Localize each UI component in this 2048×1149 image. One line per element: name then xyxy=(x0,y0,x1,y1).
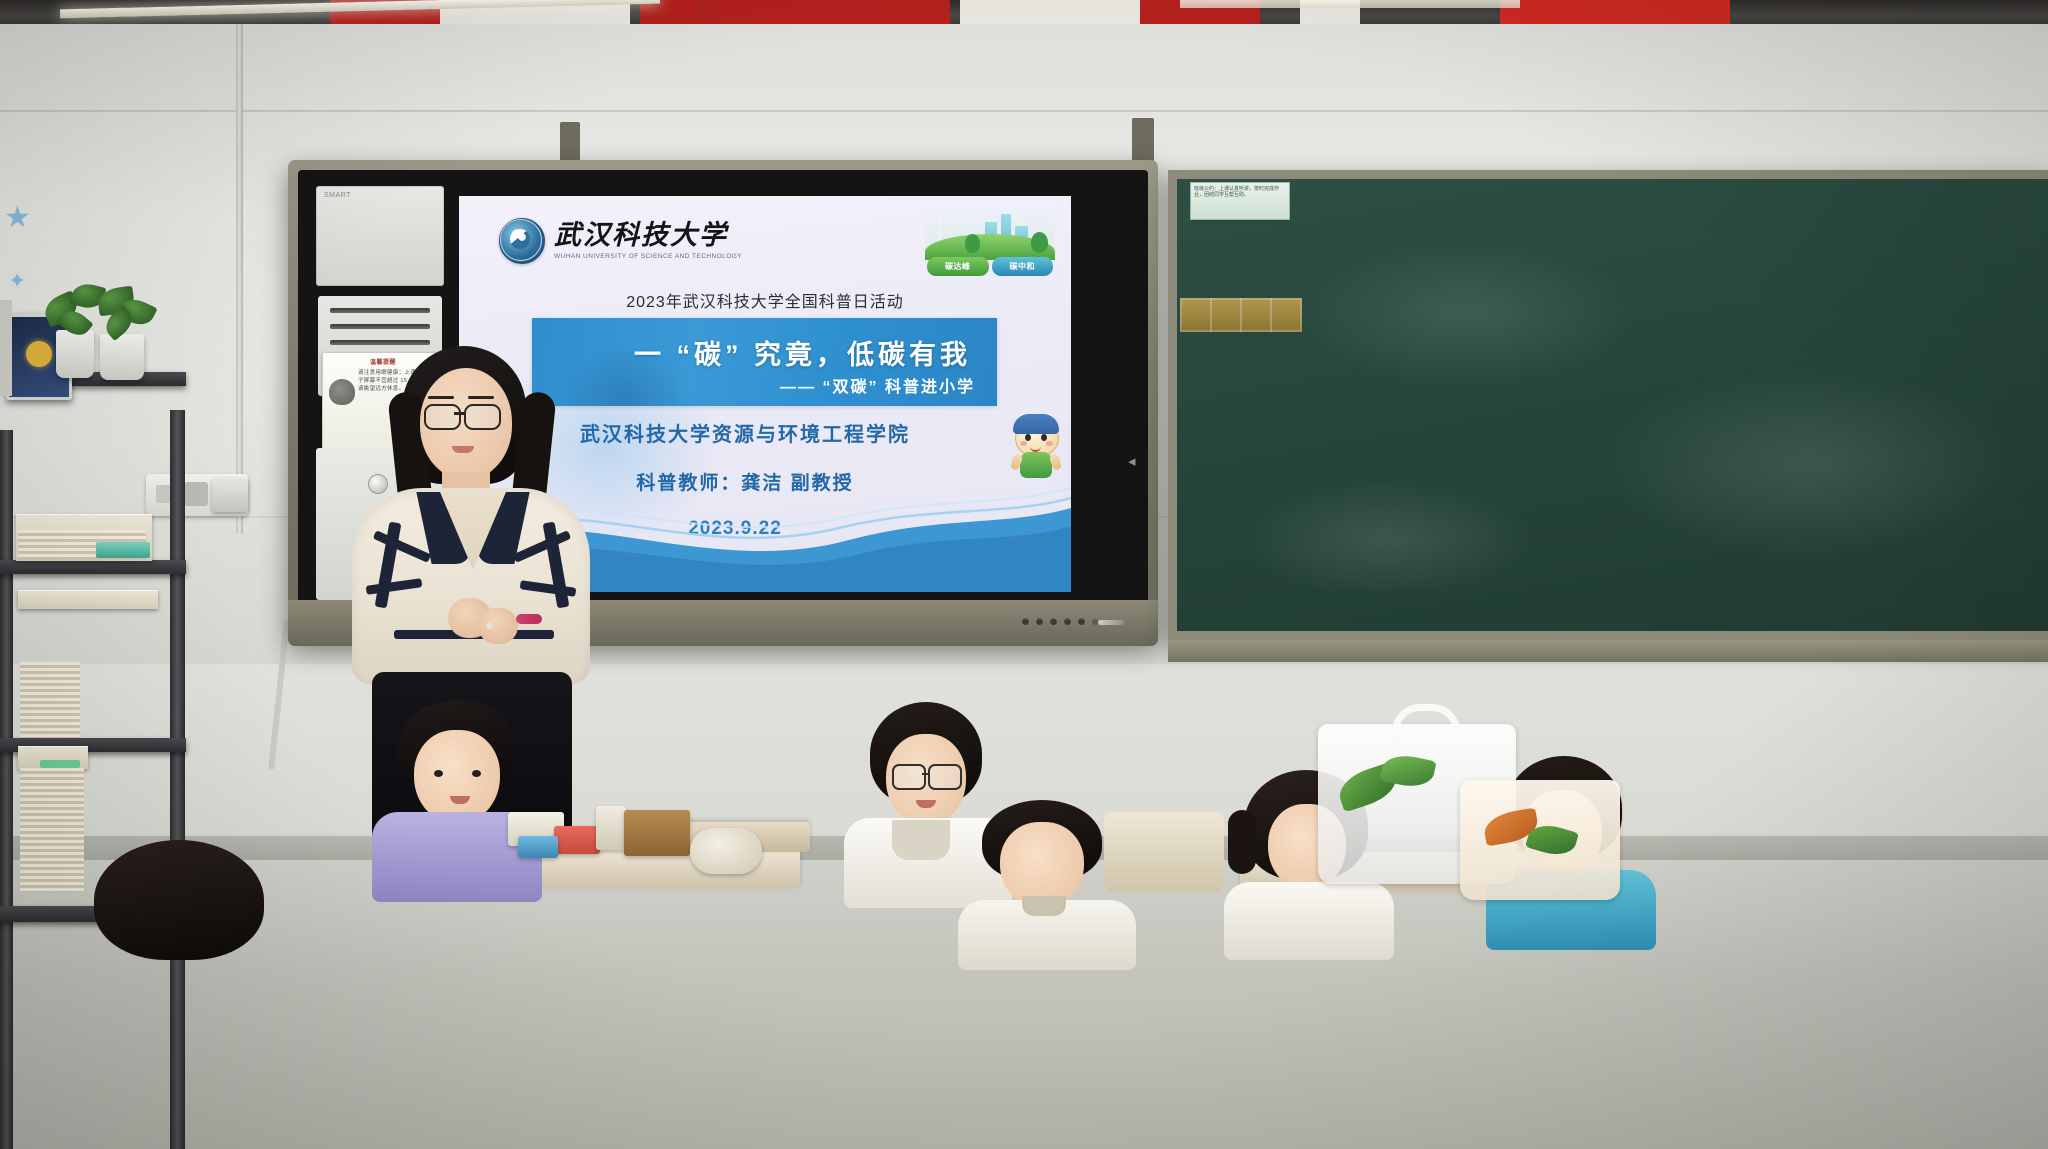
desk-basket xyxy=(624,810,690,856)
speaker-module: SMART xyxy=(316,186,444,286)
star-decoration: ★ xyxy=(4,200,31,235)
smartboard-status-leds xyxy=(1022,618,1099,625)
book-stack xyxy=(20,662,80,738)
board-mount-right xyxy=(1132,118,1154,164)
eco-pill-carbon-peak: 碳达峰 xyxy=(927,257,989,276)
banner-text: 乐 心 xyxy=(640,0,940,24)
plant-pot-left xyxy=(56,330,94,378)
student-boy-left xyxy=(372,700,542,890)
desk-roll xyxy=(690,828,762,874)
storage-shelf xyxy=(0,430,250,1149)
chalkboard-notice: 班级公约：上课认真听讲，按时完成作业，团结同学互帮互助。 xyxy=(1190,182,1290,220)
chalkboard xyxy=(1168,170,2048,640)
chalkboard-rail xyxy=(1168,640,2048,662)
student-foreground-left xyxy=(84,840,274,960)
university-emblem-icon xyxy=(499,218,545,264)
desk-bag-cloth xyxy=(1104,812,1224,892)
eco-badge: 碳达峰 碳中和 xyxy=(925,208,1055,274)
plaque-backer xyxy=(0,300,12,396)
chevron-left-icon[interactable]: ◂ xyxy=(1128,452,1136,470)
slide-kicker: 2023年武汉科技大学全国科普日活动 xyxy=(459,288,1071,312)
classroom-scene: 乐 心 xyxy=(0,0,2048,1149)
stylus-pen[interactable] xyxy=(1098,620,1124,625)
bag-handle xyxy=(1392,704,1460,745)
star-decoration-small: ✦ xyxy=(8,268,26,294)
green-folder xyxy=(96,542,150,558)
desk-book-2 xyxy=(596,806,626,850)
university-logo: 武汉科技大学 WUHAN UNIVERSITY OF SCIENCE AND T… xyxy=(499,218,742,264)
desk-box-blue xyxy=(518,836,558,858)
ceiling-banner: 乐 心 xyxy=(0,0,2048,24)
ceiling-lamp-secondary xyxy=(1180,0,1520,8)
university-name-cn: 武汉科技大学 xyxy=(554,222,742,249)
desk-book-red xyxy=(554,826,600,854)
eco-pill-carbon-neutral: 碳中和 xyxy=(992,257,1054,276)
student-girl-center-right xyxy=(958,800,1128,950)
plant-pot-right xyxy=(100,334,144,380)
university-name-en: WUHAN UNIVERSITY OF SCIENCE AND TECHNOLO… xyxy=(554,253,742,260)
chalkboard-grid-marker xyxy=(1180,298,1302,332)
board-mount-left xyxy=(560,122,580,164)
